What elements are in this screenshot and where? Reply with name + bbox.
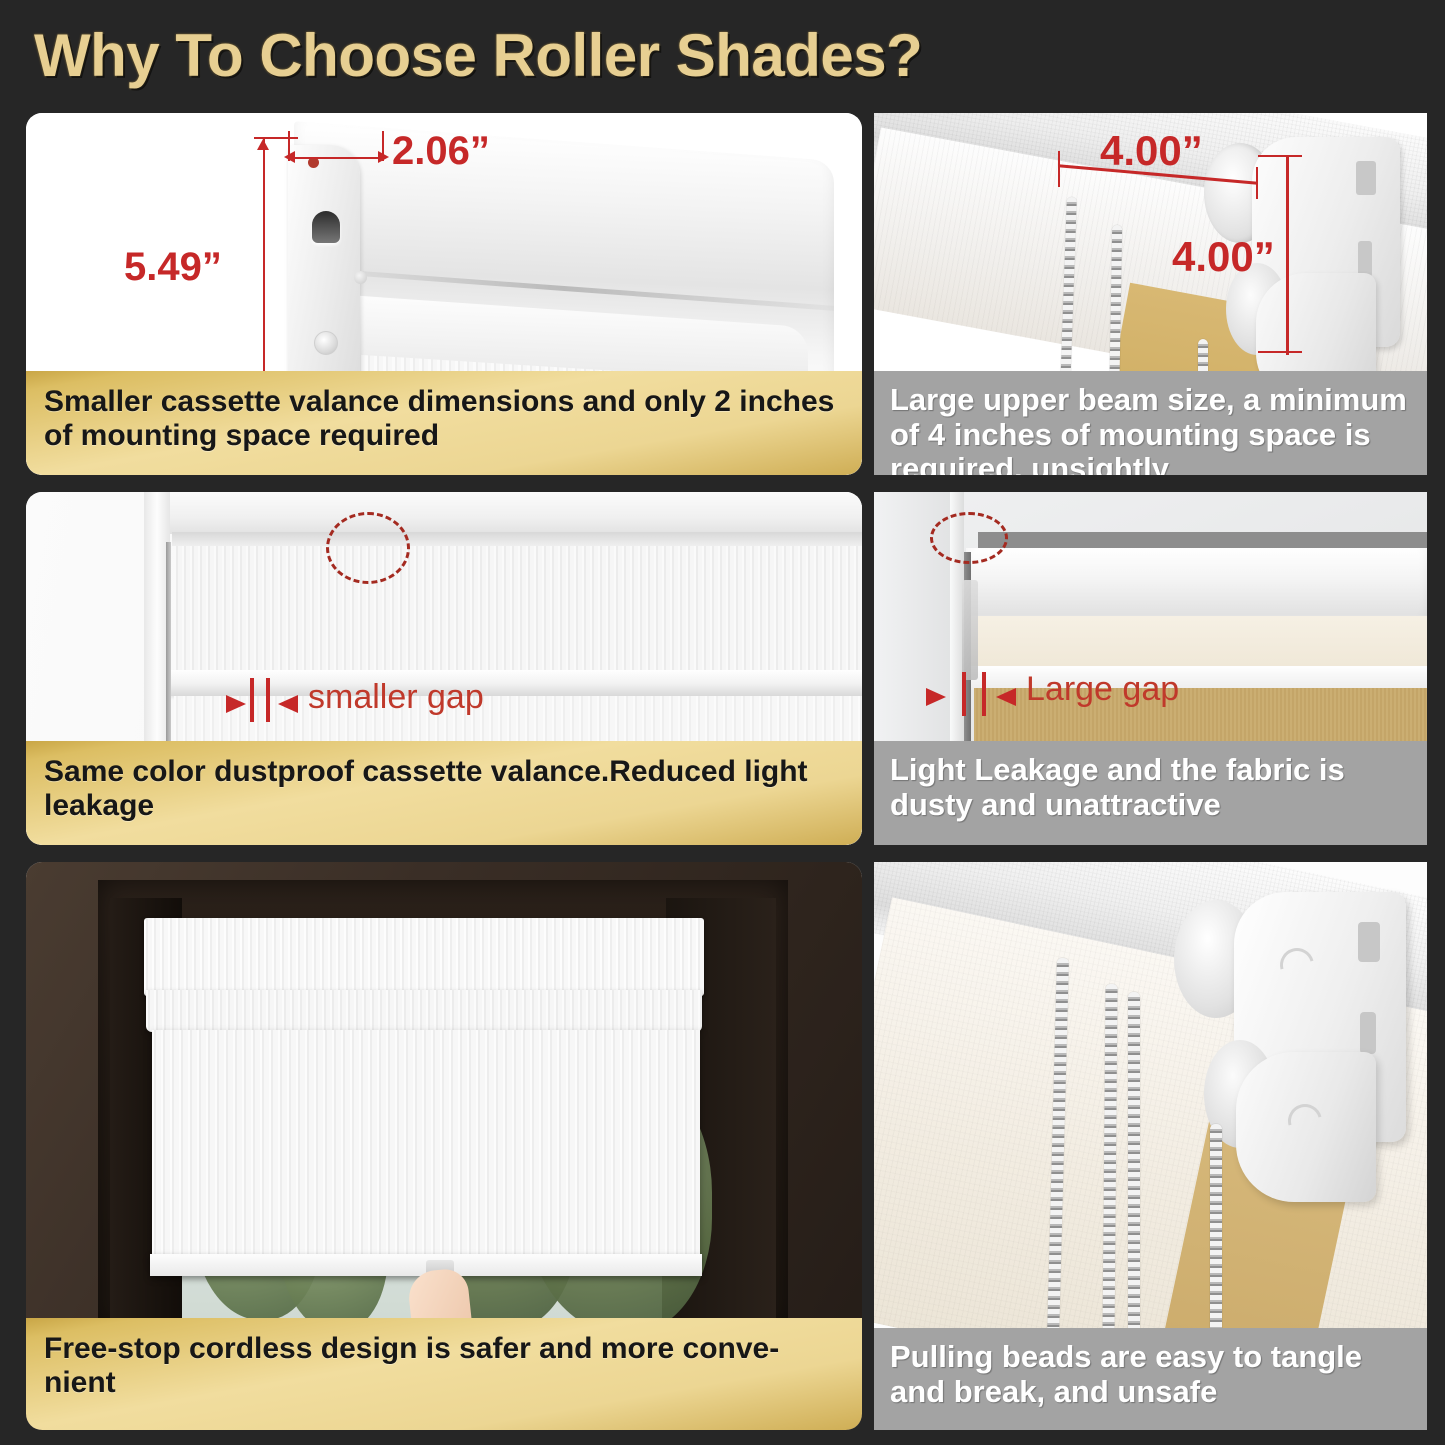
bead-chain-4: [1210, 1124, 1222, 1340]
infographic-page: Why To Choose Roller Shades? 2.06”: [0, 0, 1445, 1445]
width-extension-right: [382, 131, 384, 161]
bracket-notch-1: [1356, 161, 1376, 195]
dashed-highlight-circle: [326, 512, 410, 584]
caption-cordless-design: Free-stop cordless design is safer and m…: [26, 1318, 862, 1430]
dashed-highlight-circle: [930, 512, 1008, 564]
panel-light-leakage: Large gap Light Leakage and the fabric i…: [874, 492, 1427, 845]
bracket-notch-1: [1358, 922, 1380, 962]
caption-light-leakage: Light Leakage and the fabric is dusty an…: [874, 741, 1427, 845]
gap-arrow-left: [226, 695, 246, 713]
page-title: Why To Choose Roller Shades?: [34, 18, 1034, 94]
beam-width-ext-left: [1058, 151, 1060, 187]
roller-head-tube: [966, 548, 1427, 626]
panel-dustproof-cassette: smaller gap Same color dustproof cassett…: [26, 492, 862, 845]
valance-end-cap: [288, 145, 360, 403]
panel-pulling-beads: Pulling beads are easy to tangle and bre…: [874, 862, 1427, 1430]
caption-large-upper-beam: Large upper beam size, a minimum of 4 in…: [874, 371, 1427, 475]
valance-slot: [312, 211, 340, 243]
width-dimension-line: [288, 157, 384, 159]
beam-height-line: [1286, 155, 1289, 355]
bracket-arrow-icon-lower: [1282, 1098, 1328, 1144]
height-dimension-label: 5.49”: [124, 245, 222, 290]
caption-dustproof-cassette: Same color dustproof cassette valance.Re…: [26, 741, 862, 845]
bead-chain-3: [1128, 992, 1140, 1340]
gap-marker-line-2: [982, 672, 986, 716]
beam-width-label: 4.00”: [1100, 127, 1203, 175]
height-dimension-arrow-up: [257, 139, 269, 150]
panel-large-upper-beam: 4.00” 4.00” Large upper beam size, a min…: [874, 113, 1427, 475]
gap-marker-line-2: [266, 678, 270, 722]
gap-marker-line-1: [962, 672, 966, 716]
panel-cassette-valance-dimensions: 2.06” 5.49” Smaller cassette valance dim…: [26, 113, 862, 475]
gap-arrow-right: [278, 695, 298, 713]
shade-fabric-upper: [174, 546, 862, 670]
shade-valance: [144, 918, 704, 996]
beam-height-tick-bottom: [1258, 351, 1302, 353]
roller-bracket-lower: [1236, 1052, 1376, 1202]
gap-marker-line-1: [250, 678, 254, 722]
panel-cordless-design: Free-stop cordless design is safer and m…: [26, 862, 862, 1430]
bracket-notch-2: [1358, 241, 1372, 277]
caption-pulling-beads: Pulling beads are easy to tangle and bre…: [874, 1328, 1427, 1430]
shade-valance-lip: [146, 990, 702, 1032]
valance-screw-lower: [314, 331, 338, 355]
cassette-head-rail: [172, 532, 862, 546]
beam-height-label: 4.00”: [1172, 233, 1275, 281]
width-extension-left: [288, 131, 290, 161]
window-frame-top: [144, 492, 862, 534]
smaller-gap-label: smaller gap: [308, 678, 484, 717]
beam-height-tick-top: [1258, 155, 1302, 157]
shade-fabric: [152, 1030, 700, 1262]
valance-screw-upper: [354, 271, 367, 284]
bracket-notch-2: [1360, 1012, 1376, 1054]
width-dimension-label: 2.06”: [392, 129, 490, 174]
beam-width-ext-right: [1256, 167, 1258, 199]
bracket-arrow-icon-upper: [1274, 942, 1320, 988]
gap-arrow-left: [926, 688, 946, 706]
shade-mid-rail: [168, 670, 862, 696]
bracket-hardware: [962, 580, 978, 680]
caption-cassette-valance: Smaller cassette valance dimensions and …: [26, 371, 862, 475]
gap-arrow-right: [996, 688, 1016, 706]
height-dimension-line: [263, 137, 265, 407]
large-gap-label: Large gap: [1026, 670, 1179, 709]
